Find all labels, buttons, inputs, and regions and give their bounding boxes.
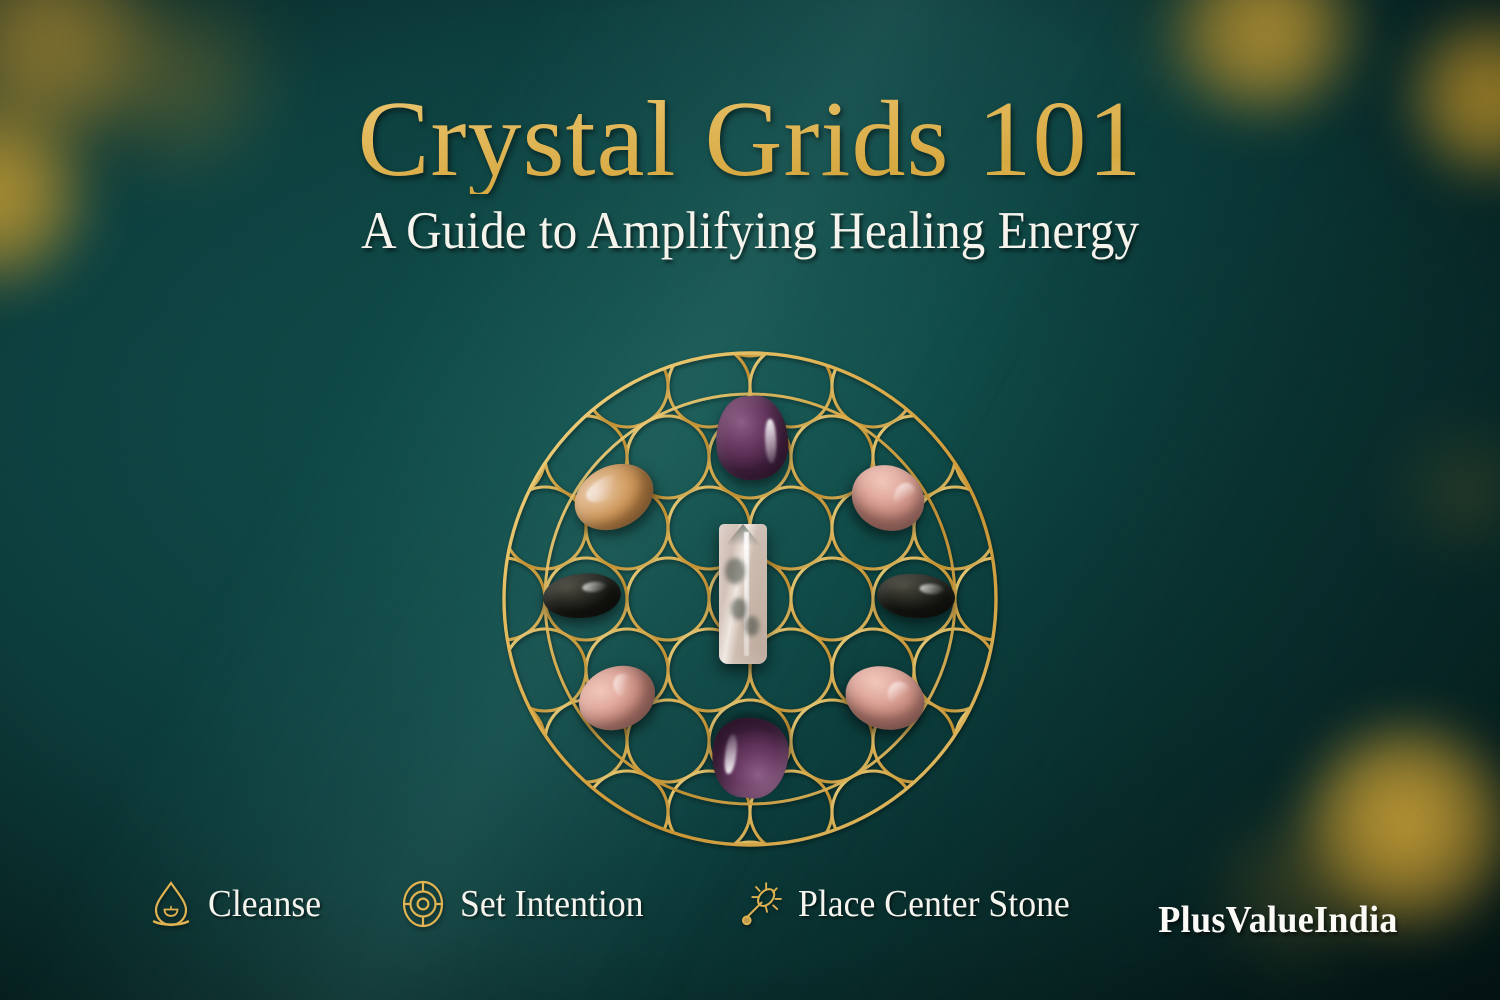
magic-wand-icon (738, 878, 784, 930)
quartz-inclusion (731, 598, 747, 620)
brand-wordmark: PlusValueIndia (1158, 898, 1397, 942)
poster-canvas: Crystal Grids 101 A Guide to Amplifying … (0, 0, 1500, 1000)
page-title: Crystal Grids 101 (0, 0, 1500, 194)
quartz-facet (744, 532, 749, 655)
poster-header: Crystal Grids 101 A Guide to Amplifying … (0, 0, 1500, 260)
footer-step-label: Set Intention (460, 882, 644, 926)
water-drop-icon (148, 878, 194, 930)
stone-clear-quartz-center[interactable] (719, 524, 767, 664)
footer-step-label: Place Center Stone (798, 882, 1070, 926)
footer-step-set-intention[interactable]: Set Intention (400, 878, 655, 930)
quartz-inclusion (725, 558, 745, 584)
target-icon (400, 878, 446, 930)
footer-step-label: Cleanse (208, 882, 321, 926)
page-subtitle: A Guide to Amplifying Healing Energy (53, 204, 1448, 260)
quartz-inclusion (745, 616, 759, 636)
footer-step-place-center-stone[interactable]: Place Center Stone (738, 878, 1087, 930)
footer-step-cleanse[interactable]: Cleanse (148, 878, 328, 930)
